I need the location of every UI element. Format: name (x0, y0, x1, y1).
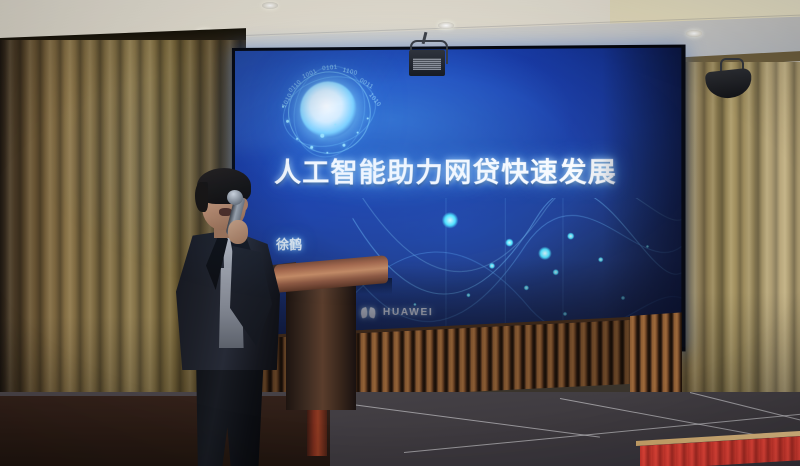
recessed-downlight-icon (438, 22, 454, 29)
right-curtain (668, 62, 800, 442)
wooden-slat-wall-right (630, 312, 682, 404)
presenter-hair-side (195, 182, 208, 212)
podium-body (286, 286, 356, 410)
presenter-hand (228, 220, 248, 244)
presenter (170, 168, 290, 466)
recessed-downlight-icon (262, 2, 278, 9)
presenter-legs (188, 364, 270, 466)
recessed-downlight-icon (686, 30, 702, 37)
stage-spotlight-icon (406, 36, 448, 78)
wall-speaker-icon (706, 58, 754, 98)
presentation-photo-scene: 1010011010010101110000111010 人工智能助力网贷快速发… (0, 0, 800, 466)
